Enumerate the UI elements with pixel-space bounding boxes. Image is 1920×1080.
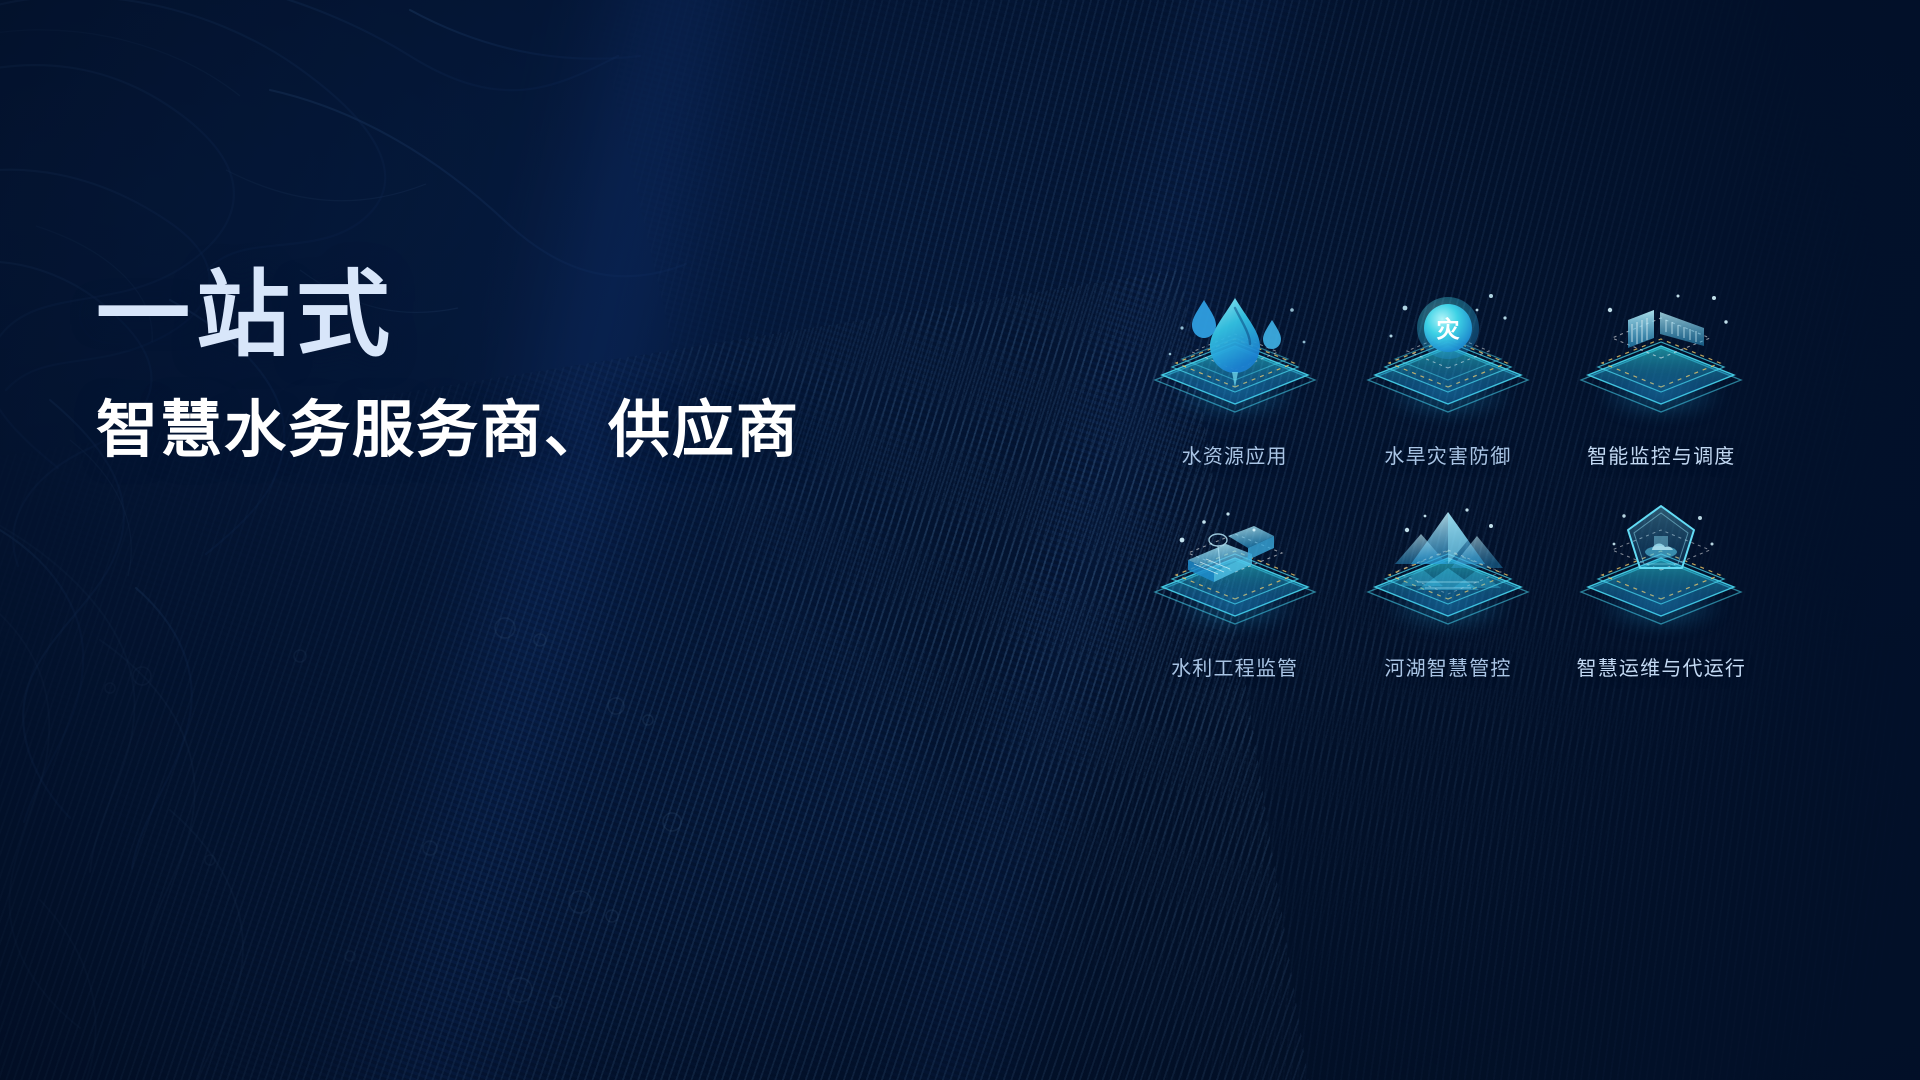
page-subtitle: 智慧水务服务商、供应商 xyxy=(96,396,996,465)
service-item-smart-operation[interactable]: 智慧运维与代运行 xyxy=(1555,496,1768,708)
disaster-sphere-platform-icon: 灾 xyxy=(1355,284,1541,434)
light-streak-decoration xyxy=(265,0,856,1080)
service-item-label: 河湖智慧管控 xyxy=(1384,652,1511,681)
service-item-label: 水利工程监管 xyxy=(1171,652,1298,681)
service-item-hydro-project-supervision[interactable]: 水利工程监管 xyxy=(1128,496,1341,708)
svg-text:灾: 灾 xyxy=(1436,316,1459,342)
mountain-lake-platform-icon xyxy=(1355,496,1541,646)
light-glow-decoration xyxy=(39,424,1081,1080)
monitoring-dashboard-platform-icon xyxy=(1568,284,1754,434)
service-item-smart-monitoring[interactable]: 智能监控与调度 xyxy=(1555,284,1768,496)
hero-text-block: 一站式 智慧水务服务商、供应商 xyxy=(96,268,996,465)
service-icon-grid: 水资源应用 xyxy=(1128,284,1768,708)
slide-canvas: 一站式 智慧水务服务商、供应商 xyxy=(0,0,1920,1080)
service-item-flood-drought-defense[interactable]: 灾 水旱灾害防御 xyxy=(1341,284,1554,496)
water-drop-platform-icon xyxy=(1142,284,1328,434)
page-title: 一站式 xyxy=(96,268,996,362)
service-item-label: 智慧运维与代运行 xyxy=(1577,652,1747,681)
service-item-river-lake-control[interactable]: 河湖智慧管控 xyxy=(1341,496,1554,708)
bubble-texture-decoration xyxy=(0,560,720,1080)
shield-cloud-platform-icon xyxy=(1568,496,1754,646)
hydro-facility-platform-icon xyxy=(1142,496,1328,646)
service-item-label: 智能监控与调度 xyxy=(1587,440,1735,469)
water-texture-decoration xyxy=(0,520,640,1080)
service-item-label: 水资源应用 xyxy=(1182,440,1288,469)
service-item-label: 水旱灾害防御 xyxy=(1384,440,1511,469)
service-item-water-resource[interactable]: 水资源应用 xyxy=(1128,284,1341,496)
